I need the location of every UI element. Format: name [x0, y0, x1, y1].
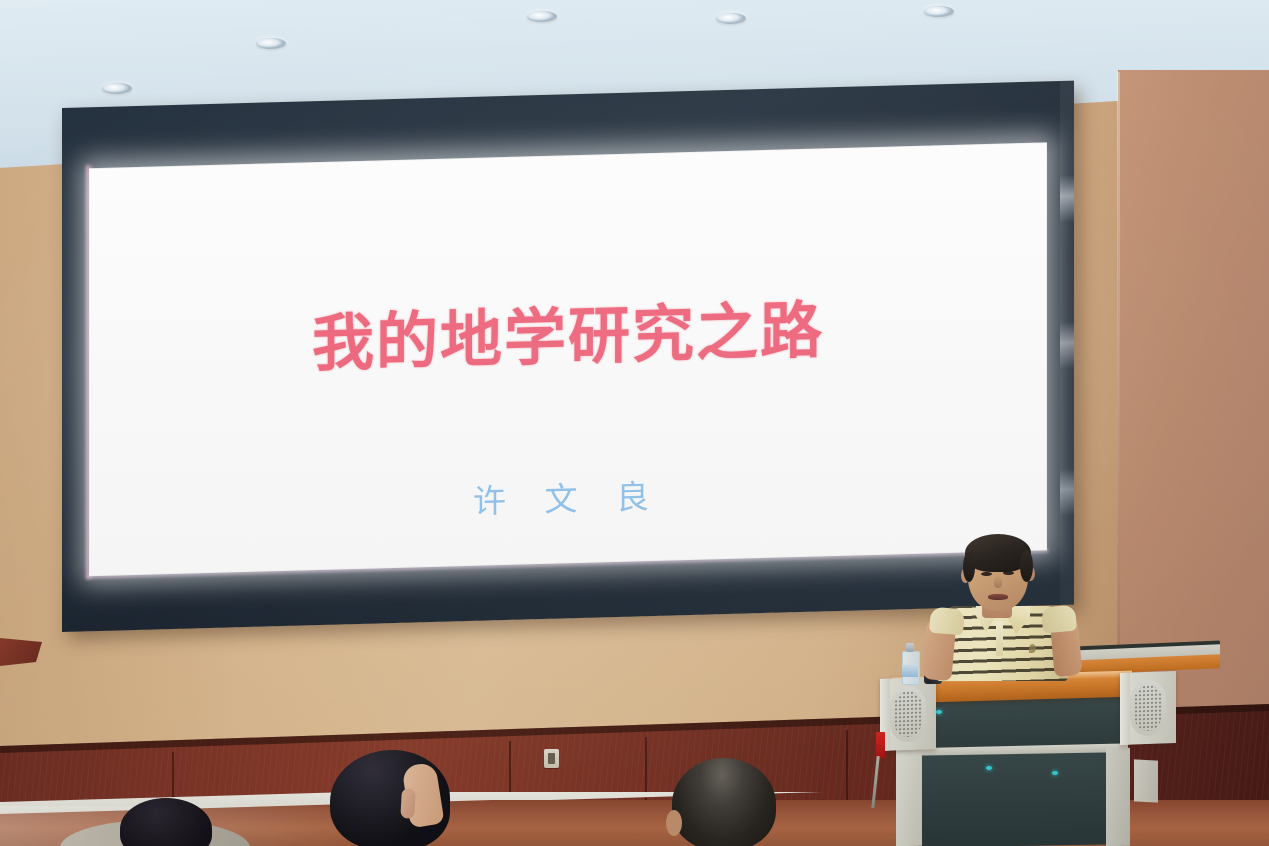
presenter-hair-left [963, 552, 975, 582]
speaker-grille-icon [894, 691, 922, 738]
podium-status-led[interactable] [936, 710, 942, 714]
podium-right-leg [1106, 748, 1130, 846]
projection-screen: 我的地学研究之路 许 文 良 [62, 81, 1074, 632]
wall-corner-edge [1117, 72, 1120, 708]
podium-speaker-edge [1120, 673, 1130, 745]
presenter-hair-right [1020, 550, 1033, 582]
audience-head [672, 758, 776, 846]
podium-left-speaker [880, 677, 936, 751]
red-cable-tag [876, 732, 885, 758]
presenter-eye-left [981, 572, 992, 576]
audience-head [120, 798, 212, 846]
bottle-label [902, 665, 918, 677]
presenter-mouth [988, 594, 1008, 600]
screen-surface: 我的地学研究之路 许 文 良 [90, 143, 1046, 575]
audience-ear [666, 810, 682, 836]
right-side-wall [1118, 70, 1269, 710]
podium-speaker-face [1130, 679, 1166, 736]
presenter-shirt-logo [1029, 644, 1036, 653]
slide-title: 我的地学研究之路 [312, 279, 824, 383]
ceiling-downlight-icon [256, 38, 286, 49]
podium-right-speaker [1120, 671, 1176, 745]
ceiling-downlight-icon [716, 13, 746, 24]
podium-right-side-panel [1134, 759, 1158, 802]
screen-frame-highlight [1060, 81, 1074, 605]
audience-member-right [672, 758, 782, 846]
lecture-hall-photo: 我的地学研究之路 许 文 良 [0, 0, 1269, 846]
presenter-right-sleeve [1041, 605, 1077, 634]
audience-thumb [400, 788, 416, 819]
ceiling-downlight-icon [102, 83, 132, 94]
water-bottle[interactable] [902, 643, 918, 683]
ceiling-downlight-icon [924, 6, 954, 17]
bottle-cap [906, 643, 914, 652]
power-outlet[interactable] [544, 749, 559, 768]
presenter-nose [994, 576, 1002, 588]
presenter [930, 534, 1090, 674]
presentation-slide: 我的地学研究之路 许 文 良 [90, 143, 1046, 575]
podium-status-led[interactable] [1052, 771, 1058, 775]
speaker-grille-icon [1134, 685, 1162, 732]
wall-mounted-shelf [0, 638, 42, 666]
presenter-left-sleeve [929, 607, 965, 636]
presenter-shirt-placket [996, 622, 1003, 656]
slide-author-name: 许 文 良 [473, 470, 663, 523]
podium-left-leg [896, 752, 922, 846]
podium-speaker-face [890, 685, 926, 742]
podium-status-led[interactable] [986, 766, 992, 770]
audience-member-left [60, 790, 240, 846]
ceiling-downlight-icon [527, 11, 557, 22]
podium-lower-panel [918, 752, 1110, 846]
audience-member-center [330, 748, 500, 846]
